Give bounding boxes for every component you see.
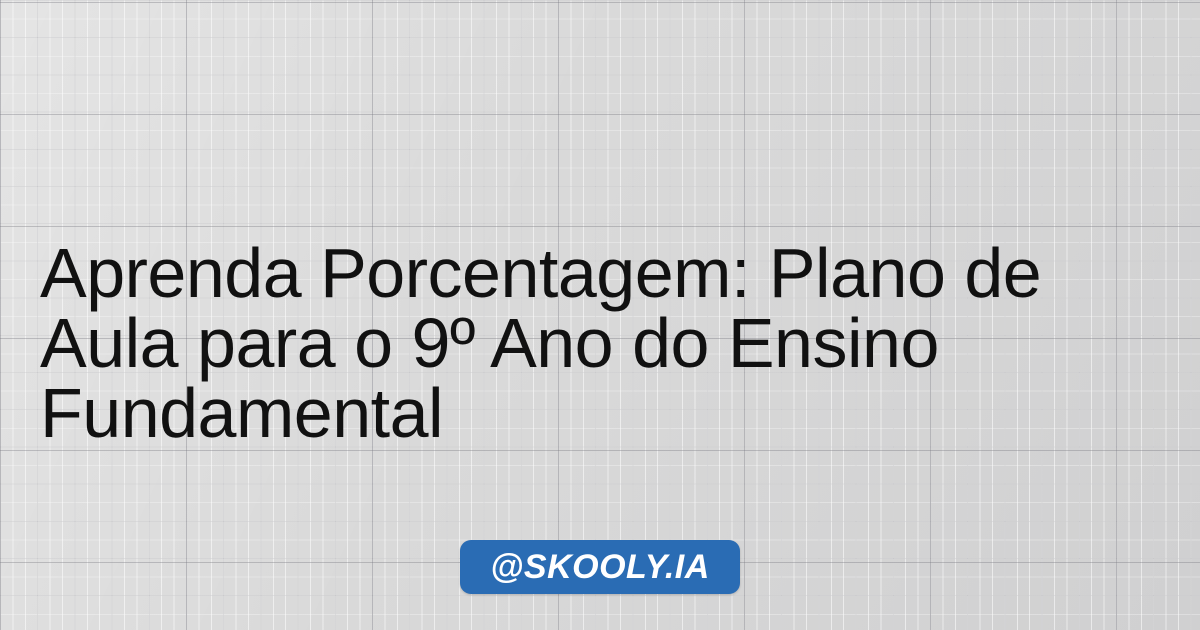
social-share-card: Aprenda Porcentagem: Plano de Aula para … (0, 0, 1200, 630)
page-title: Aprenda Porcentagem: Plano de Aula para … (40, 238, 1174, 448)
badge-row: @SKOOLY.IA (0, 540, 1200, 594)
status-badge: @SKOOLY.IA (460, 540, 740, 594)
